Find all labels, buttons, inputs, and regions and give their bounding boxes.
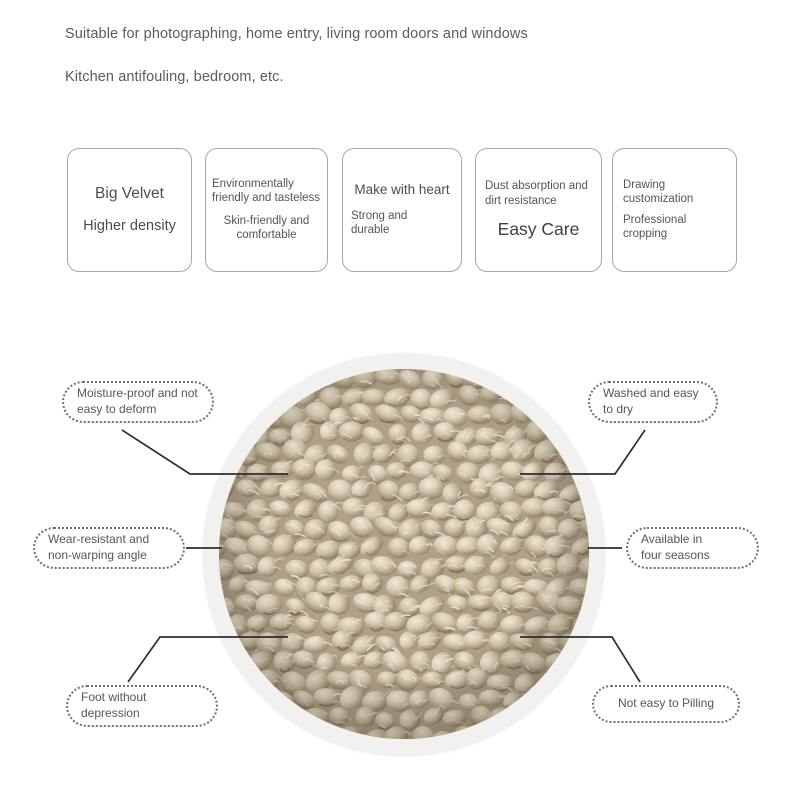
feature-primary-text: Make with heart [351, 182, 453, 199]
feature-primary-text: Dust absorption and dirt resistance [485, 179, 592, 208]
callout-foot-without-depression[interactable]: Foot without depression [66, 685, 218, 727]
feature-primary-text: Big Velvet [95, 184, 164, 203]
carpet-product-figure [203, 353, 605, 755]
feature-secondary-text: Strong and durable [351, 209, 453, 238]
callout-wear-resistant[interactable]: Wear-resistant and non-warping angle [33, 527, 185, 569]
feature-primary-text: Drawing customization [623, 178, 726, 207]
feature-secondary-text: Professional cropping [623, 213, 726, 242]
feature-box-make-with-heart[interactable]: Make with heart Strong and durable [342, 148, 462, 272]
feature-box-row: Big Velvet Higher density Environmentall… [67, 148, 737, 272]
feature-box-environmentally-friendly[interactable]: Environmentally friendly and tasteless S… [205, 148, 328, 272]
feature-box-easy-care[interactable]: Dust absorption and dirt resistance Easy… [475, 148, 602, 272]
callout-label: Not easy to Pilling [607, 696, 725, 712]
callout-label: Wear-resistant and non-warping angle [48, 532, 149, 563]
intro-line-1: Suitable for photographing, home entry, … [65, 26, 528, 42]
callout-label: Moisture-proof and not easy to deform [77, 386, 198, 417]
callout-moisture-proof[interactable]: Moisture-proof and not easy to deform [62, 381, 214, 423]
callout-not-easy-to-pilling[interactable]: Not easy to Pilling [592, 685, 740, 723]
callout-label: Foot without depression [81, 690, 146, 721]
feature-box-drawing-customization[interactable]: Drawing customization Professional cropp… [612, 148, 737, 272]
feature-secondary-text: Higher density [83, 217, 176, 236]
feature-secondary-text: Easy Care [485, 218, 592, 240]
intro-line-2: Kitchen antifouling, bedroom, etc. [65, 69, 284, 85]
feature-secondary-text: Skin-friendly and comfortable [212, 214, 321, 243]
callout-label: Washed and easy to dry [603, 386, 699, 417]
callout-available-four-seasons[interactable]: Available in four seasons [626, 527, 759, 569]
callout-label: Available in four seasons [641, 532, 710, 563]
carpet-texture-image [219, 369, 589, 739]
feature-box-big-velvet[interactable]: Big Velvet Higher density [67, 148, 192, 272]
callout-washed-and-easy-to-dry[interactable]: Washed and easy to dry [588, 381, 718, 423]
feature-primary-text: Environmentally friendly and tasteless [212, 177, 321, 206]
